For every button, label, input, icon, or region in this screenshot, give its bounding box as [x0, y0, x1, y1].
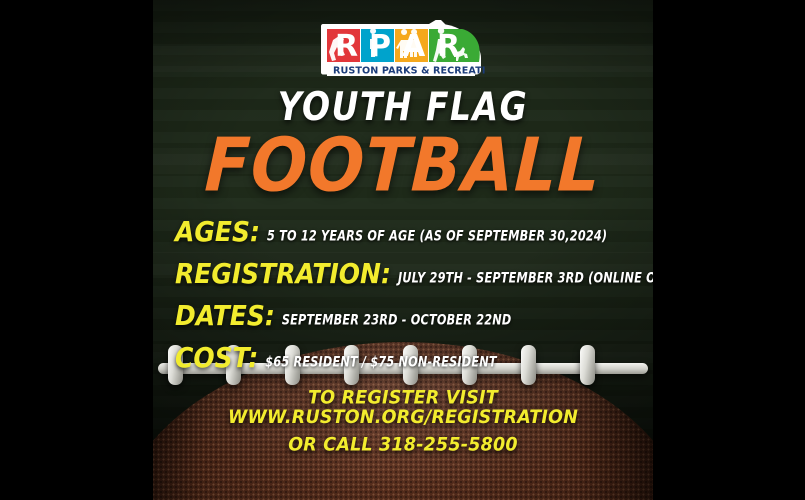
info-list: AGES: 5 TO 12 YEARS OF AGE (AS OF SEPTEM… — [153, 219, 653, 370]
footer-phone-number[interactable]: OR CALL 318-255-5800 — [153, 437, 653, 456]
letterbox-bar-right — [653, 0, 805, 500]
heading-football: FOOTBALL — [204, 132, 603, 199]
info-label-ages: AGES: — [175, 218, 260, 246]
poster-frame: R P A R RUSTON PARKS & RECREATION YOUTH … — [0, 0, 805, 500]
info-row-ages: AGES: 5 TO 12 YEARS OF AGE (AS OF SEPTEM… — [175, 219, 631, 244]
info-row-registration: REGISTRATION: JULY 29TH - SEPTEMBER 3RD … — [175, 261, 631, 286]
flyer-canvas: R P A R RUSTON PARKS & RECREATION YOUTH … — [153, 0, 653, 500]
info-row-dates: DATES: SEPTEMBER 23RD - OCTOBER 22ND — [175, 303, 631, 328]
info-value-registration: JULY 29TH - SEPTEMBER 3RD (ONLINE ONLY) — [398, 272, 653, 286]
letterbox-bar-left — [0, 0, 153, 500]
info-value-dates: SEPTEMBER 23RD - OCTOBER 22ND — [282, 314, 512, 328]
info-label-registration: REGISTRATION: — [175, 260, 391, 288]
footer-call-to-action: TO REGISTER VISIT WWW.RUSTON.ORG/REGISTR… — [153, 391, 653, 455]
info-value-ages: 5 TO 12 YEARS OF AGE (AS OF SEPTEMBER 30… — [267, 230, 607, 244]
logo-tagline: RUSTON PARKS & RECREATION — [333, 65, 485, 76]
ruston-parks-recreation-logo: R P A R RUSTON PARKS & RECREATION — [321, 20, 485, 78]
footer-registration-url[interactable]: TO REGISTER VISIT WWW.RUSTON.ORG/REGISTR… — [153, 390, 653, 427]
info-row-cost: COST: $65 RESIDENT / $75 NON-RESIDENT — [175, 345, 631, 370]
poster-content: R P A R RUSTON PARKS & RECREATION YOUTH … — [153, 0, 653, 500]
heading-youth-flag: YOUTH FLAG — [278, 87, 528, 126]
info-value-cost: $65 RESIDENT / $75 NON-RESIDENT — [265, 356, 496, 370]
info-label-cost: COST: — [175, 344, 258, 372]
info-label-dates: DATES: — [175, 302, 275, 330]
